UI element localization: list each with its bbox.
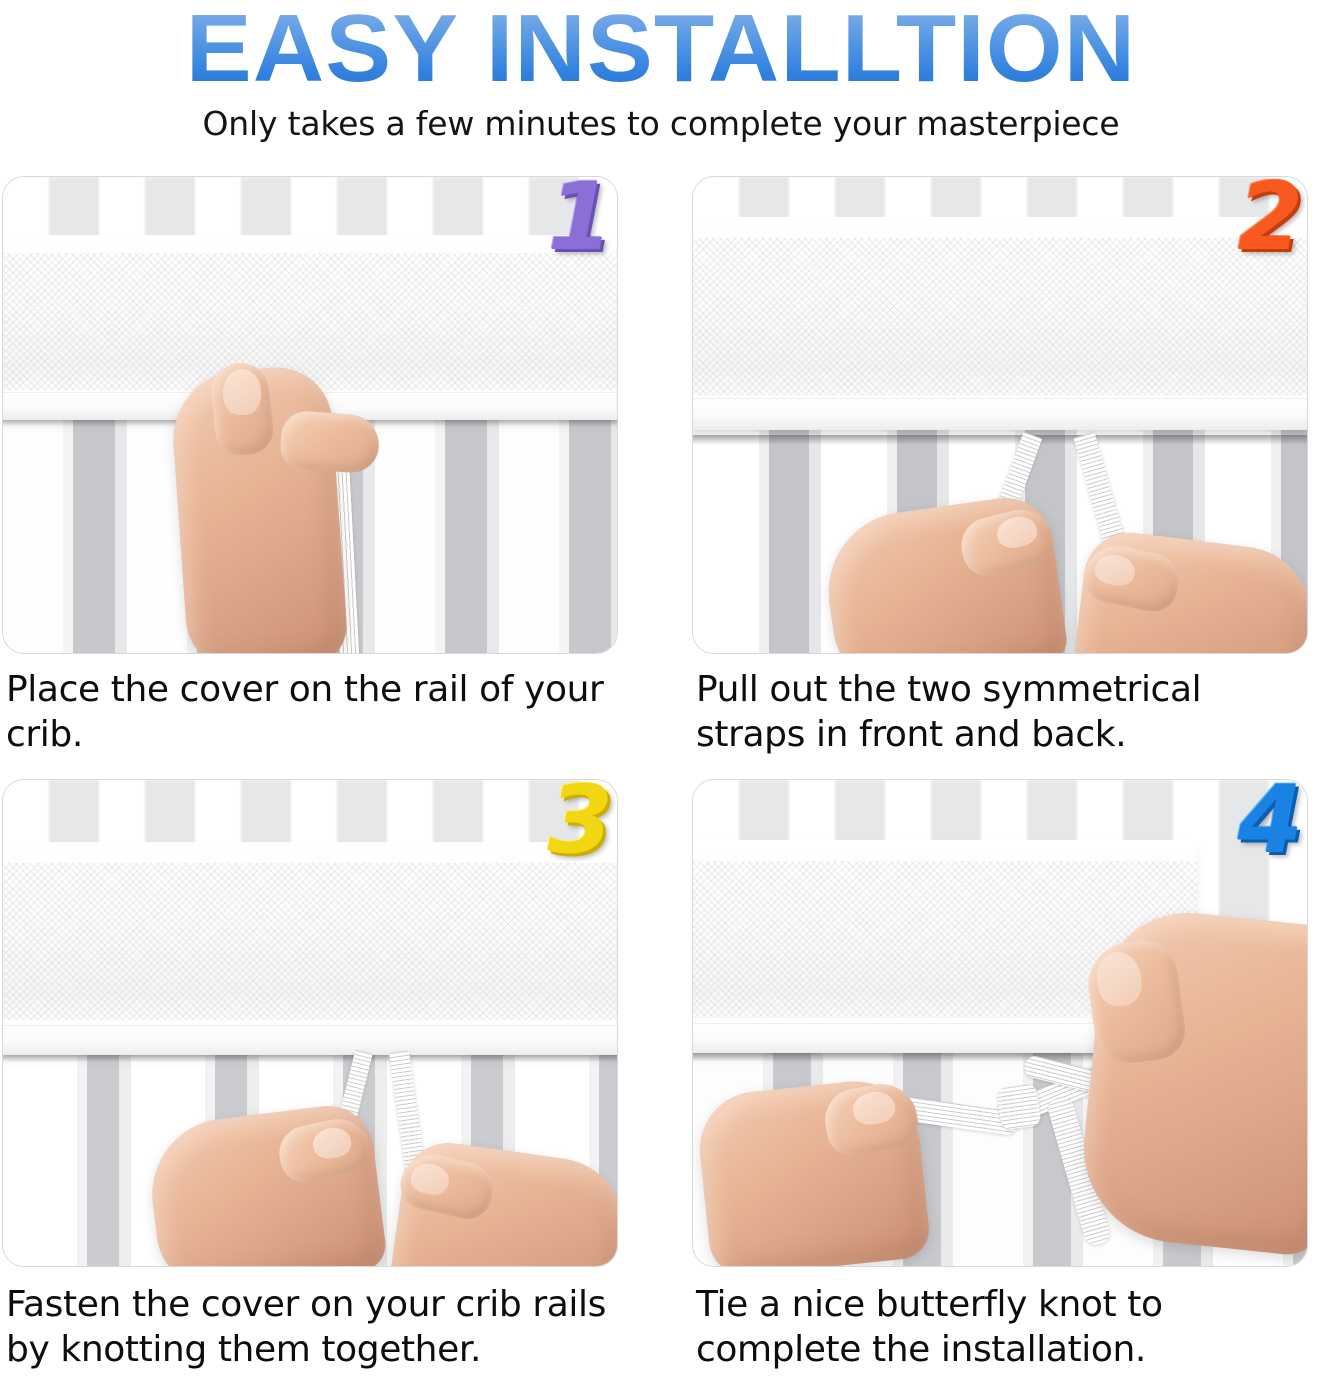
step-4-photo: 4 bbox=[692, 779, 1308, 1267]
step-1: 1 Place the cover on the rail of your cr… bbox=[2, 176, 618, 757]
rail-cover-lip bbox=[692, 398, 1308, 429]
index-finger bbox=[279, 410, 381, 475]
page-title: EASY INSTALLTION bbox=[0, 2, 1322, 96]
step-1-photo: 1 bbox=[2, 176, 618, 654]
rail-cover bbox=[2, 842, 618, 1055]
rail-cover-lip bbox=[2, 1025, 618, 1054]
step-4: 4 Tie a nice butterfly knot to complete … bbox=[692, 779, 1308, 1372]
header: EASY INSTALLTION Only takes a few minute… bbox=[0, 0, 1322, 143]
thumb-nail bbox=[223, 369, 261, 415]
bow-knot-center bbox=[996, 1084, 1041, 1131]
step-4-caption: Tie a nice butterfly knot to complete th… bbox=[696, 1283, 1308, 1372]
installation-steps-grid: 1 Place the cover on the rail of your cr… bbox=[0, 176, 1322, 1373]
step-number-badge-2: 2 bbox=[1238, 176, 1303, 265]
step-number-badge-3: 3 bbox=[548, 779, 613, 868]
step-2-caption: Pull out the two symmetrical straps in f… bbox=[696, 668, 1308, 757]
step-2: 2 Pull out the two symmetrical straps in… bbox=[692, 176, 1308, 757]
step-2-photo: 2 bbox=[692, 176, 1308, 654]
step-3-photo: 3 bbox=[2, 779, 618, 1267]
rail-shadow bbox=[693, 435, 1307, 445]
page-subtitle: Only takes a few minutes to complete you… bbox=[0, 104, 1322, 143]
step-number-badge-4: 4 bbox=[1238, 779, 1303, 868]
rail-cover bbox=[692, 217, 1308, 430]
step-1-caption: Place the cover on the rail of your crib… bbox=[6, 668, 618, 757]
step-number-badge-1: 1 bbox=[548, 176, 613, 265]
step-3: 3 Fasten the cover on your crib rails by… bbox=[2, 779, 618, 1372]
step-3-caption: Fasten the cover on your crib rails by k… bbox=[6, 1283, 618, 1372]
